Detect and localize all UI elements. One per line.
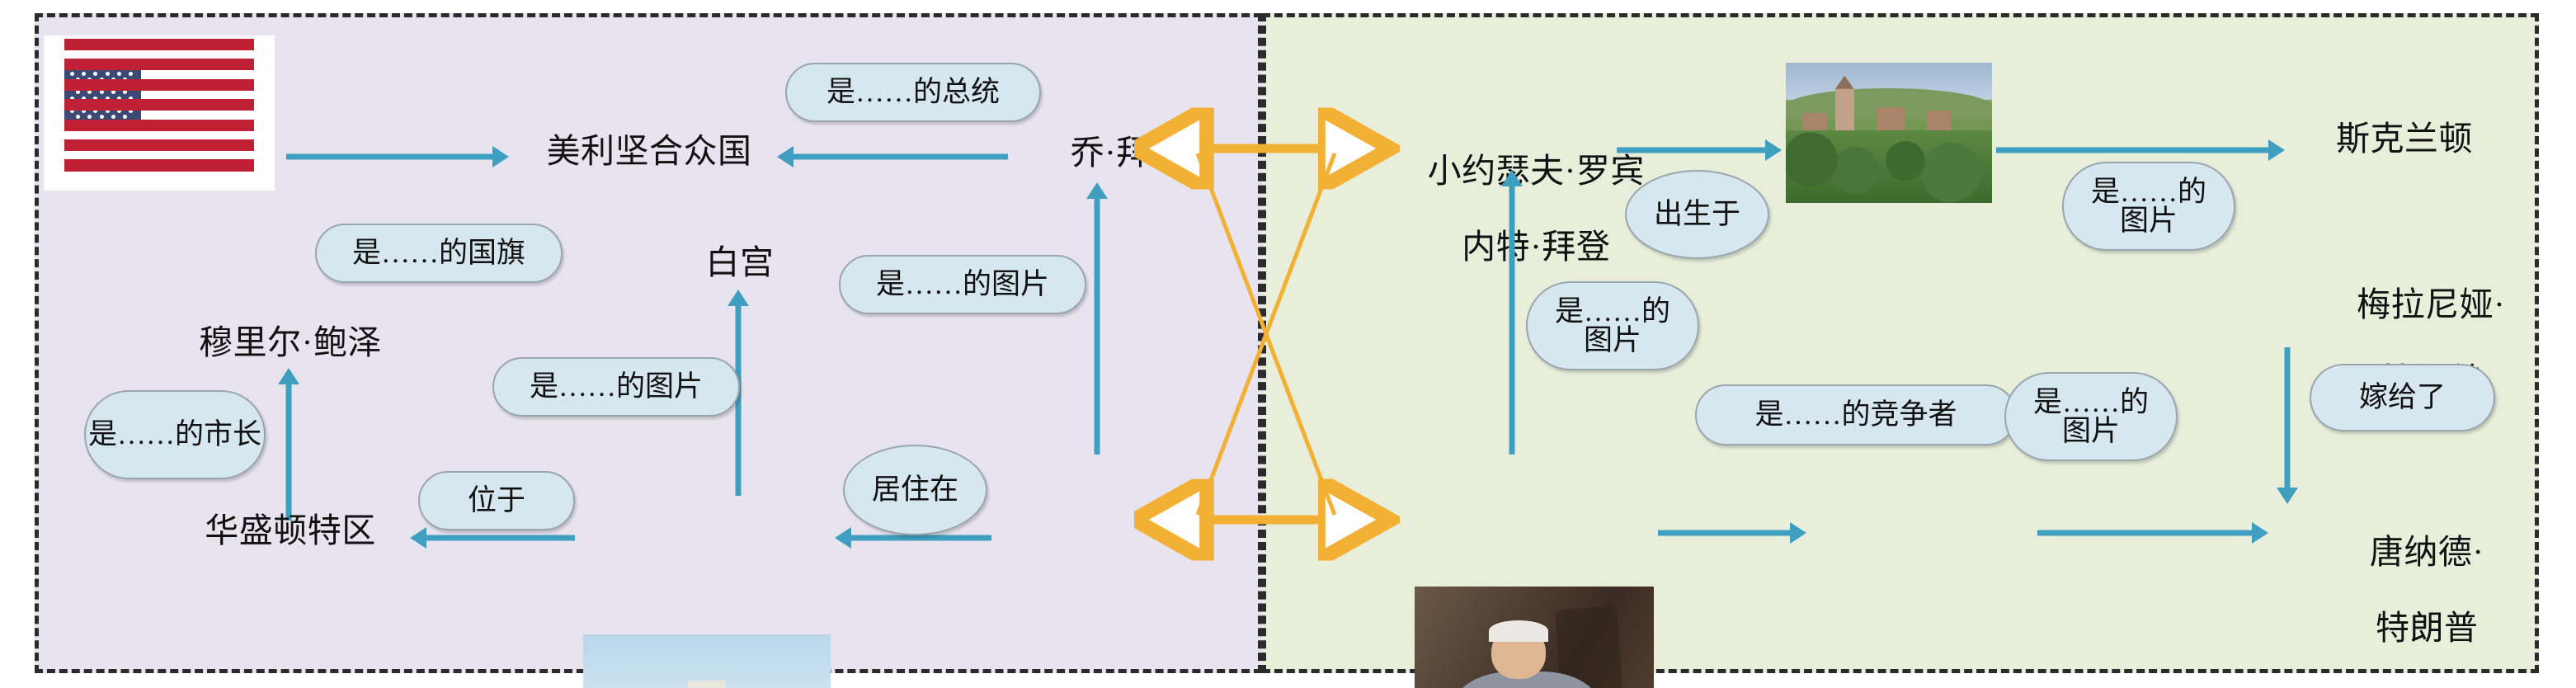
relation-married-to: 嫁给了 <box>2310 364 2495 431</box>
relation-competitor-of: 是……的竞争者 <box>1695 384 2017 445</box>
arrow-dc-to-bowser <box>278 368 299 521</box>
relation-image-of-scranton: 是……的 图片 <box>2062 162 2235 251</box>
left-knowledge-graph-panel: 美利坚合众国 是……的国旗 是……的总统 乔·拜登 是……的图片 白宫 是……的… <box>35 13 1262 673</box>
arrow-scranton-photo-to-scranton <box>1996 139 2285 161</box>
relation-image-of-biden: 是……的图片 <box>839 255 1086 314</box>
relation-mayor-of: 是……的市长 <box>84 390 266 479</box>
arrow-biden-to-usa <box>777 146 1008 167</box>
entity-usa: 美利坚合众国 <box>525 133 773 171</box>
relation-lives-in: 居住在 <box>843 445 987 535</box>
entity-white-house: 白宫 <box>657 244 822 282</box>
relation-image-of-biden-right: 是……的 图片 <box>1526 281 1699 370</box>
arrow-biden-to-trump <box>1658 522 1806 544</box>
arrow-biden-speaking-to-joseph-biden <box>1501 170 1523 455</box>
entity-melania-trump-line1: 梅拉尼娅· <box>2357 285 2505 323</box>
entity-donald-trump-line1: 唐纳德· <box>2370 533 2484 571</box>
relation-image-of-biden-right-line2: 图片 <box>1584 326 1641 355</box>
relation-image-of-scranton-line2: 图片 <box>2120 206 2178 235</box>
relation-flag-of: 是……的国旗 <box>315 224 563 283</box>
arrow-trump-photo-to-donald-trump <box>2037 522 2268 544</box>
entity-scranton: 斯克兰顿 <box>2297 120 2512 158</box>
entity-joseph-robinette-biden-line1: 小约瑟夫·罗宾 <box>1428 152 1645 190</box>
arrow-biden-to-scranton-photo <box>1617 139 1782 161</box>
relation-born-in: 出生于 <box>1625 170 1769 259</box>
right-knowledge-graph-panel: 小约瑟夫·罗宾 内特·拜登 出生于 是……的 图片 <box>1262 13 2539 673</box>
entity-washington-dc: 华盛顿特区 <box>167 512 414 550</box>
entity-joe-biden: 乔·拜登 <box>1020 134 1235 172</box>
us-flag-image <box>44 35 275 191</box>
white-house-photo <box>583 634 831 688</box>
entity-donald-trump: 唐纳德· 特朗普 <box>2285 496 2516 686</box>
arrow-biden-photo-to-biden <box>1086 182 1108 455</box>
relation-image-of-biden-right-line1: 是……的 <box>1555 297 1670 326</box>
relation-image-of-trump: 是……的 图片 <box>2004 372 2178 461</box>
entity-joseph-robinette-biden-line2: 内特·拜登 <box>1462 228 1610 266</box>
arrow-flag-to-usa <box>286 146 509 167</box>
relation-image-of-trump-line2: 图片 <box>2062 417 2120 445</box>
relation-image-of-white-house: 是……的图片 <box>492 357 740 417</box>
relation-mayor-of-line1: 是……的市长 <box>88 419 261 451</box>
entity-donald-trump-line2: 特朗普 <box>2376 609 2479 647</box>
arrow-melania-to-donald-trump <box>2277 347 2298 504</box>
diagram-canvas: 美利坚合众国 是……的国旗 是……的总统 乔·拜登 是……的图片 白宫 是……的… <box>0 0 2576 688</box>
scranton-townscape-photo <box>1786 63 1992 203</box>
relation-located-in: 位于 <box>418 471 575 530</box>
joe-biden-speaking-photo <box>1415 587 1654 688</box>
entity-muriel-bowser: 穆里尔·鲍泽 <box>154 324 426 362</box>
relation-image-of-scranton-line1: 是……的 <box>2091 177 2206 206</box>
relation-image-of-trump-line1: 是……的 <box>2033 388 2149 417</box>
arrow-white-house-to-dc <box>410 527 575 549</box>
relation-president-of: 是……的总统 <box>785 63 1041 122</box>
